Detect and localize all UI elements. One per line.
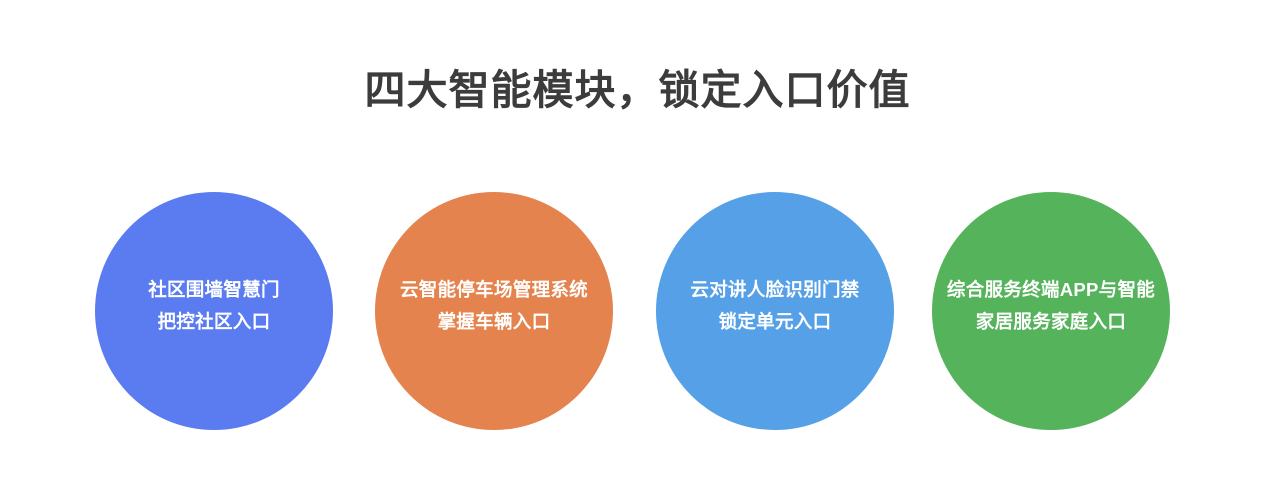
module-label-line2: 锁定单元入口 (690, 306, 859, 338)
module-circle-service-terminal-app-smart-home[interactable]: 综合服务终端APP与智能 家居服务家庭入口 (932, 192, 1170, 430)
module-label-group: 社区围墙智慧门 把控社区入口 (142, 274, 286, 338)
page-title: 四大智能模块，锁定入口价值 (0, 62, 1275, 118)
module-circle-cloud-intercom-face-access[interactable]: 云对讲人脸识别门禁 锁定单元入口 (656, 192, 894, 430)
module-label-line1: 云对讲人脸识别门禁 (690, 274, 859, 306)
slide-canvas: 四大智能模块，锁定入口价值 社区围墙智慧门 把控社区入口 云智能停车场管理系统 … (0, 0, 1275, 487)
module-label-group: 综合服务终端APP与智能 家居服务家庭入口 (941, 274, 1161, 338)
module-label-line2: 把控社区入口 (148, 306, 280, 338)
module-circle-community-wall-smart-gate[interactable]: 社区围墙智慧门 把控社区入口 (95, 192, 333, 430)
module-label-line1: 综合服务终端APP与智能 (947, 274, 1155, 306)
module-label-group: 云智能停车场管理系统 掌握车辆入口 (394, 274, 594, 338)
module-circle-cloud-smart-parking[interactable]: 云智能停车场管理系统 掌握车辆入口 (375, 192, 613, 430)
module-label-line2: 家居服务家庭入口 (947, 306, 1155, 338)
module-circle-row: 社区围墙智慧门 把控社区入口 云智能停车场管理系统 掌握车辆入口 云对讲人脸识别… (0, 192, 1275, 432)
module-label-line1: 社区围墙智慧门 (148, 274, 280, 306)
module-label-line1: 云智能停车场管理系统 (400, 274, 588, 306)
module-label-line2: 掌握车辆入口 (400, 306, 588, 338)
module-label-group: 云对讲人脸识别门禁 锁定单元入口 (684, 274, 865, 338)
